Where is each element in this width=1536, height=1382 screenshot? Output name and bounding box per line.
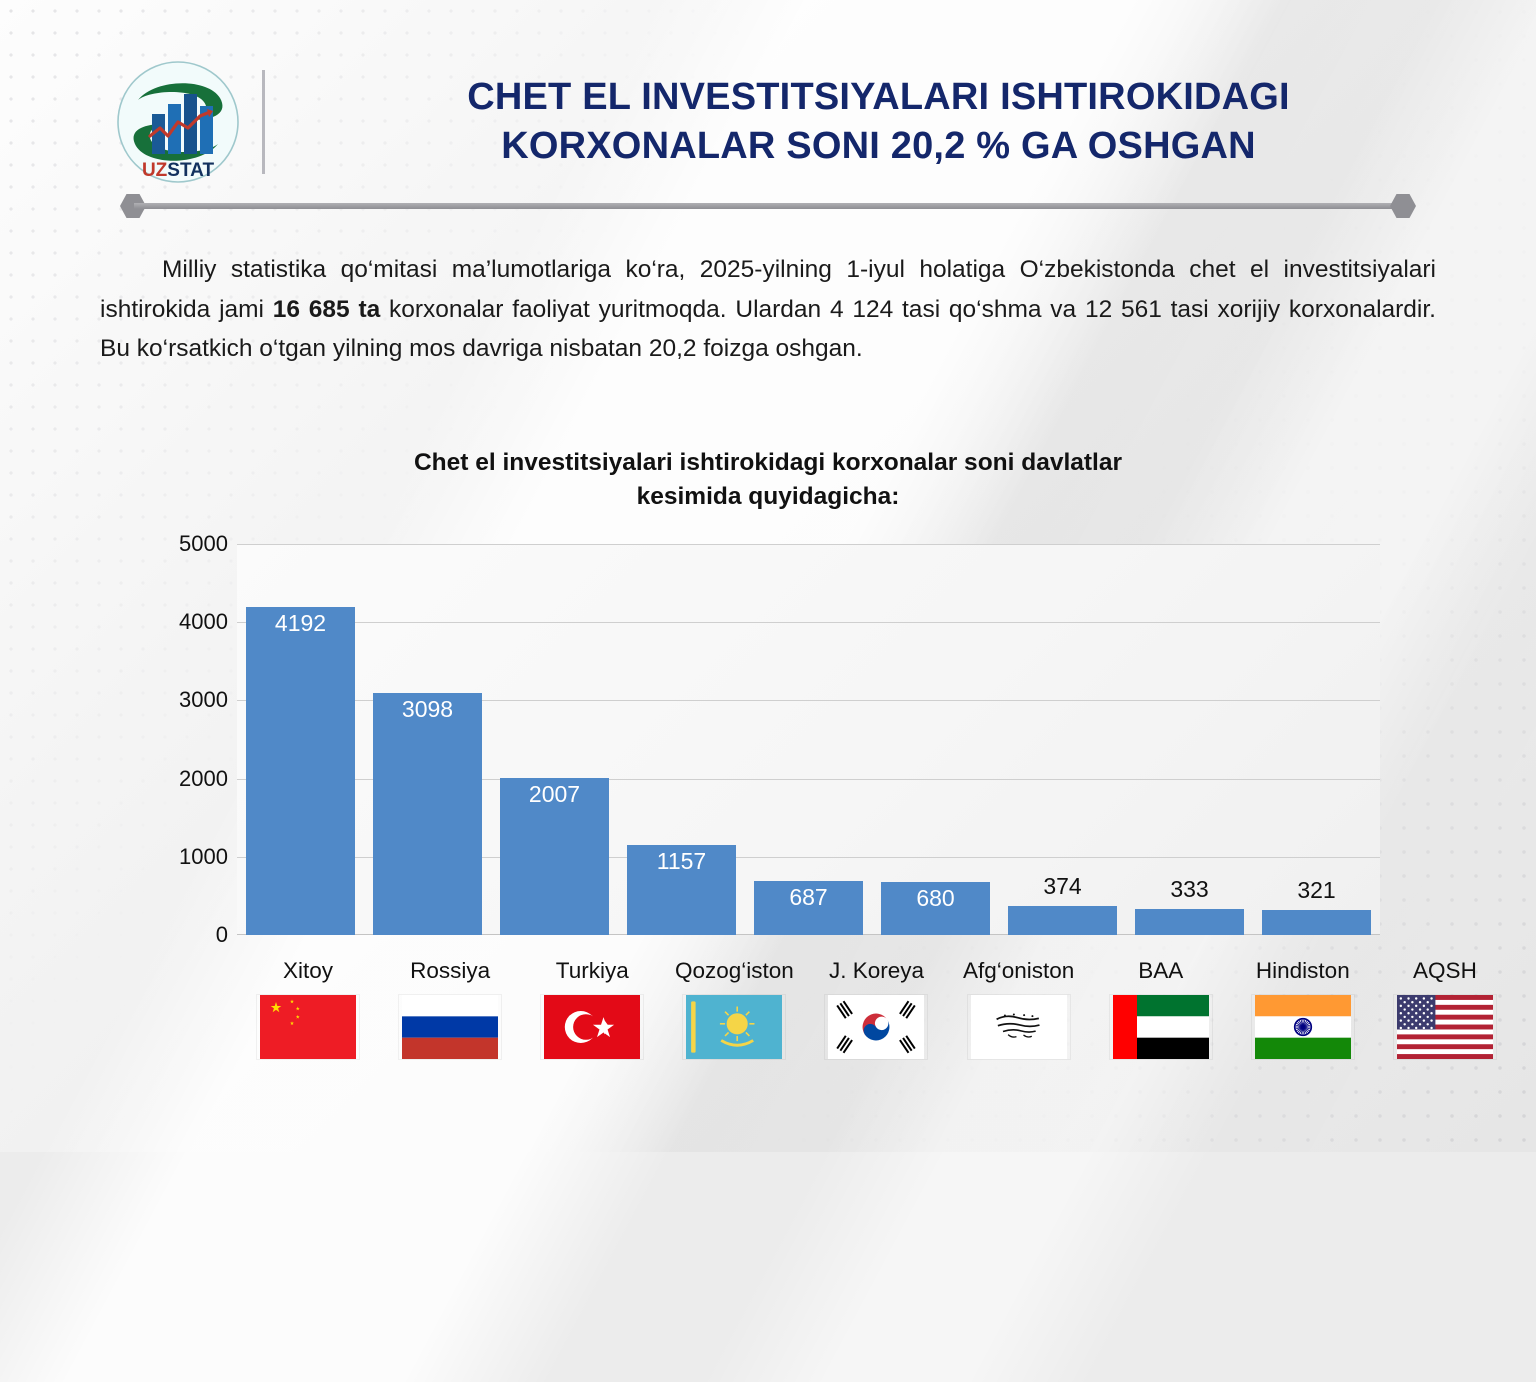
y-axis-tick-4000: 4000 — [150, 609, 228, 635]
paragraph-highlight-total: 16 685 ta — [273, 296, 380, 323]
usa-flag — [1394, 995, 1496, 1059]
page-title-line-1: CHET EL INVESTITSIYALARI ISHTIROKIDAGI — [311, 73, 1446, 122]
bar[interactable]: 4192 — [246, 607, 355, 935]
bar-chart: 010002000300040005000 419230982007115768… — [150, 528, 1400, 958]
y-axis-labels: 010002000300040005000 — [150, 544, 228, 935]
bar[interactable]: 680 — [881, 882, 990, 935]
x-axis-label-afgoniston: Afg‘oniston — [948, 958, 1090, 992]
y-axis-tick-2000: 2000 — [150, 766, 228, 792]
bar-value-label: 687 — [789, 881, 827, 935]
flag-cell — [948, 994, 1090, 1060]
flag-cell — [237, 994, 379, 1060]
india-flag — [1252, 995, 1354, 1059]
flag-cell — [663, 994, 805, 1060]
kazakhstan-flag — [683, 995, 785, 1059]
page-title: CHET EL INVESTITSIYALARI ISHTIROKIDAGI K… — [265, 73, 1536, 172]
x-axis-label-qozogiston: Qozog‘iston — [663, 958, 805, 992]
uzstat-logo-icon: UZSTAT — [112, 56, 244, 188]
infographic-page: UZSTAT CHET EL INVESTITSIYALARI ISHTIROK… — [0, 0, 1536, 1152]
bar[interactable] — [1135, 909, 1244, 935]
flag-cell — [379, 994, 521, 1060]
flag-cell — [805, 994, 947, 1060]
header: UZSTAT CHET EL INVESTITSIYALARI ISHTIROK… — [0, 52, 1536, 192]
rule-line — [134, 203, 1402, 209]
bar-value-label: 680 — [916, 882, 954, 935]
bar-cell-aqsh[interactable]: 321 — [1253, 544, 1380, 935]
flag-cell — [1232, 994, 1374, 1060]
x-axis-label-turkiya: Turkiya — [521, 958, 663, 992]
bar[interactable]: 2007 — [500, 778, 609, 935]
x-axis-label-aqsh: AQSH — [1374, 958, 1516, 992]
bar-cell-jkoreya[interactable]: 687 — [745, 544, 872, 935]
uae-flag — [1110, 995, 1212, 1059]
x-axis-label-xitoy: Xitoy — [237, 958, 379, 992]
country-flags-row — [237, 994, 1516, 1060]
bar-cell-rossiya[interactable]: 3098 — [364, 544, 491, 935]
chart-title: Chet el investitsiyalari ishtirokidagi k… — [268, 446, 1268, 514]
flag-cell — [1090, 994, 1232, 1060]
bar[interactable] — [1008, 906, 1117, 935]
turkey-flag — [541, 995, 643, 1059]
uzstat-logo: UZSTAT — [112, 56, 244, 188]
flag-cell — [1374, 994, 1516, 1060]
x-axis-label-hindiston: Hindiston — [1232, 958, 1374, 992]
plot-area: 4192309820071157687680374333321 — [237, 544, 1380, 935]
page-title-line-2: KORXONALAR SONI 20,2 % GA OSHGAN — [311, 122, 1446, 171]
bar[interactable]: 687 — [754, 881, 863, 935]
bar-value-label: 321 — [1253, 879, 1380, 902]
bar-value-label: 1157 — [657, 845, 706, 935]
south-korea-flag — [825, 995, 927, 1059]
x-axis-label-baa: BAA — [1090, 958, 1232, 992]
bar-value-label: 333 — [1126, 878, 1253, 901]
x-axis-label-jkoreya: J. Koreya — [805, 958, 947, 992]
bar-cell-qozogiston[interactable]: 1157 — [618, 544, 745, 935]
bar[interactable] — [1262, 910, 1371, 935]
bar-value-label: 3098 — [402, 693, 453, 935]
y-axis-tick-1000: 1000 — [150, 844, 228, 870]
russia-flag — [399, 995, 501, 1059]
bar-value-label: 2007 — [529, 778, 580, 935]
header-rule — [120, 194, 1416, 218]
bar[interactable]: 1157 — [627, 845, 736, 935]
y-axis-tick-5000: 5000 — [150, 531, 228, 557]
afghanistan-flag — [968, 995, 1070, 1059]
china-flag — [257, 995, 359, 1059]
bar-cell-baa[interactable]: 374 — [999, 544, 1126, 935]
flag-cell — [521, 994, 663, 1060]
hexagon-cap-right-icon — [1390, 194, 1416, 218]
x-axis-label-rossiya: Rossiya — [379, 958, 521, 992]
svg-text:UZSTAT: UZSTAT — [142, 160, 215, 181]
chart-title-line-1: Chet el investitsiyalari ishtirokidagi k… — [268, 446, 1268, 480]
bar-cell-afgoniston[interactable]: 680 — [872, 544, 999, 935]
y-axis-tick-0: 0 — [150, 922, 228, 948]
chart-title-line-2: kesimida quyidagicha: — [268, 480, 1268, 514]
bar-series: 4192309820071157687680374333321 — [237, 544, 1380, 935]
bar[interactable]: 3098 — [373, 693, 482, 935]
body-paragraph: Milliy statistika qo‘mitasi ma’lumotlari… — [100, 250, 1436, 369]
bar-value-label: 374 — [999, 875, 1126, 898]
x-axis-labels: XitoyRossiyaTurkiyaQozog‘istonJ. KoreyaA… — [237, 958, 1516, 992]
y-axis-tick-3000: 3000 — [150, 687, 228, 713]
bar-value-label: 4192 — [275, 607, 326, 935]
bar-cell-hindiston[interactable]: 333 — [1126, 544, 1253, 935]
bar-cell-turkiya[interactable]: 2007 — [491, 544, 618, 935]
bar-cell-xitoy[interactable]: 4192 — [237, 544, 364, 935]
